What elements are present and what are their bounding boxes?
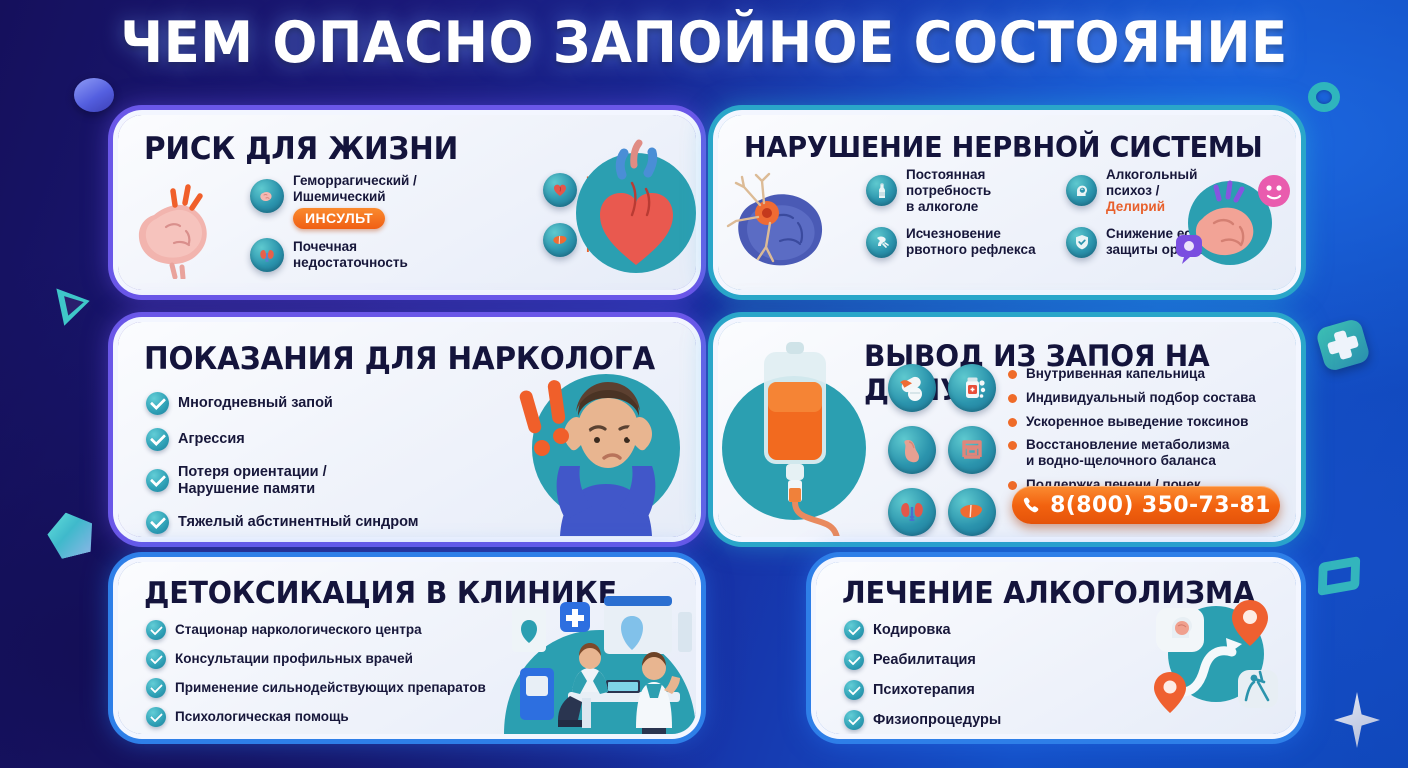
- list-item-label-3: в алкоголе: [906, 199, 991, 215]
- vomit-reflex-icon: [866, 227, 897, 258]
- list-item: Восстановление метаболизма и водно-щелоч…: [1008, 437, 1288, 469]
- card-nervous-system: НАРУШЕНИЕ НЕРВНОЙ СИСТЕМЫ: [718, 115, 1296, 290]
- list-item: Кодировка: [844, 620, 1104, 640]
- list-item: Стационар наркологического центра: [146, 620, 566, 640]
- list-item-label: Инфаркт: [586, 174, 651, 190]
- list-item-label-2: рвотного рефлекса: [906, 242, 1036, 258]
- check-icon: [146, 649, 166, 669]
- triangle-decoration: [56, 282, 93, 325]
- card-nervous-system-title: НАРУШЕНИЕ НЕРВНОЙ СИСТЕМЫ: [744, 131, 1263, 164]
- sparkle-decoration: [1334, 692, 1380, 748]
- neuron-brain-hero-art: [720, 165, 870, 285]
- list-item: Постоянная потребность в алкоголе: [866, 167, 1041, 214]
- list-item-label: Внутривенная капельница: [1026, 366, 1205, 382]
- list-item: Геморрагический / Ишемический ИНСУЛЬТ: [250, 173, 440, 229]
- head-psychosis-icon: [1066, 175, 1097, 206]
- ring-decoration: [1308, 82, 1340, 112]
- list-item-label: Цирроз: [586, 224, 635, 240]
- list-item: Психологическая помощь: [146, 707, 566, 727]
- list-item-label-2: миокарда: [586, 190, 651, 206]
- kidneys-icon: [888, 488, 936, 536]
- list-item: Многодневный запой: [146, 392, 516, 415]
- check-icon: [146, 678, 166, 698]
- list-item: Индивидуальный подбор состава: [1008, 390, 1288, 406]
- phone-icon: [1021, 495, 1041, 515]
- bullet-icon: [1008, 394, 1017, 403]
- card-narcologist: ПОКАЗАНИЯ ДЛЯ НАРКОЛОГА Многодневный зап…: [118, 322, 696, 537]
- list-item-label: Применение сильнодействующих препаратов: [175, 680, 486, 696]
- bullet-icon: [1008, 481, 1017, 490]
- card-alcoholism-treatment: ЛЕЧЕНИЕ АЛКОГОЛИЗМА Кодировка Реабилитац…: [816, 562, 1296, 734]
- bullet-icon: [1008, 441, 1017, 450]
- list-item: Снижение естественной защиты организма: [1066, 226, 1271, 258]
- list-item: Реабилитация: [844, 650, 1104, 670]
- list-item: Почечная недостаточность: [250, 238, 440, 272]
- list-item-label: Геморрагический /: [293, 173, 417, 189]
- check-icon: [146, 620, 166, 640]
- list-item-label: Исчезновение: [906, 226, 1036, 242]
- list-item-label: Стационар наркологического центра: [175, 622, 422, 638]
- bullet-icon: [1008, 370, 1017, 379]
- list-item-label: Индивидуальный подбор состава: [1026, 390, 1256, 406]
- brain-hero-art: [126, 169, 242, 279]
- list-item-label-2: и водно-щелочного баланса: [1026, 453, 1229, 469]
- medical-cross-decoration: [1315, 318, 1371, 373]
- list-item-label-2: потребность: [906, 183, 991, 199]
- list-item-label: Консультации профильных врачей: [175, 651, 413, 667]
- stressed-man-hero-art: [494, 356, 690, 536]
- card-clinic-detox: ДЕТОКСИКАЦИЯ В КЛИНИКЕ Стационар нарколо…: [118, 562, 696, 734]
- list-item-label: Физиопроцедуры: [873, 712, 1001, 729]
- list-item-label: Кодировка: [873, 622, 951, 639]
- list-item: Алкогольный психоз / Делирий: [1066, 167, 1271, 214]
- bullet-icon: [1008, 418, 1017, 427]
- list-item-label: Потеря ориентации /: [178, 464, 327, 481]
- ellipse-decoration: [74, 78, 114, 112]
- list-item-label-2: печени: [586, 240, 635, 256]
- list-item: Консультации профильных врачей: [146, 649, 566, 669]
- shield-check-icon: [1066, 227, 1097, 258]
- check-icon: [844, 710, 864, 730]
- list-item-label: Психологическая помощь: [175, 709, 349, 725]
- list-item-label: Постоянная: [906, 167, 991, 183]
- list-item-label: Восстановление метаболизма: [1026, 437, 1229, 453]
- stomach-icon: [888, 426, 936, 474]
- check-icon: [146, 392, 169, 415]
- list-item-label: Ускоренное выведение токсинов: [1026, 414, 1248, 430]
- kidneys-icon: [250, 238, 284, 272]
- bottle-icon: [866, 175, 897, 206]
- check-icon: [844, 680, 864, 700]
- card-clinic-detox-title: ДЕТОКСИКАЦИЯ В КЛИНИКЕ: [144, 576, 617, 611]
- list-item: Ускоренное выведение токсинов: [1008, 414, 1288, 430]
- card-home-withdrawal: ВЫВОД ИЗ ЗАПОЯ НА ДОМУ: [718, 322, 1296, 537]
- heart-icon: [543, 173, 577, 207]
- brain-icon: [250, 179, 284, 213]
- page-title: ЧЕМ ОПАСНО ЗАПОЙНОЕ СОСТОЯНИЕ: [49, 14, 1358, 72]
- list-item-label: Снижение естественной: [1106, 226, 1268, 242]
- list-item-label-2: недостаточность: [293, 255, 408, 271]
- check-icon: [146, 511, 169, 534]
- list-item-label: Психотерапия: [873, 682, 975, 699]
- phone-cta-button[interactable]: 8(800) 350-73-81: [1012, 486, 1280, 524]
- list-item-label-2: Нарушение памяти: [178, 481, 327, 498]
- card-alcoholism-treatment-title: ЛЕЧЕНИЕ АЛКОГОЛИЗМА: [842, 576, 1255, 611]
- square-outline-decoration: [1318, 556, 1361, 596]
- list-item: Потеря ориентации / Нарушение памяти: [146, 464, 516, 498]
- list-item: Применение сильнодействующих препаратов: [146, 678, 566, 698]
- intestines-icon: [948, 426, 996, 474]
- check-icon: [146, 428, 169, 451]
- list-item-label: Тяжелый абстинентный синдром: [178, 514, 419, 531]
- stroke-badge: ИНСУЛЬТ: [293, 208, 385, 229]
- list-item-label: Реабилитация: [873, 652, 976, 669]
- list-item: Исчезновение рвотного рефлекса: [866, 226, 1041, 258]
- check-icon: [146, 469, 169, 492]
- list-item-label-2: защиты организма: [1106, 242, 1268, 258]
- card-narcologist-title: ПОКАЗАНИЯ ДЛЯ НАРКОЛОГА: [144, 341, 655, 377]
- delirium-label: Делирий: [1106, 199, 1197, 215]
- list-item-label: Многодневный запой: [178, 395, 333, 412]
- pills-icon: [888, 364, 936, 412]
- liver-icon: [948, 488, 996, 536]
- list-item: Агрессия: [146, 428, 516, 451]
- list-item: Внутривенная капельница: [1008, 366, 1288, 382]
- list-item-label-2: психоз /: [1106, 183, 1197, 199]
- medicine-bottle-icon: [948, 364, 996, 412]
- list-item: Инфаркт миокарда: [543, 173, 696, 207]
- list-item-label-2: Ишемический: [293, 189, 417, 205]
- list-item: Психотерапия: [844, 680, 1104, 700]
- card-life-risk: РИСК ДЛЯ ЖИЗНИ Геморрагиче: [118, 115, 696, 290]
- list-item-label: Алкогольный: [1106, 167, 1197, 183]
- card-life-risk-title: РИСК ДЛЯ ЖИЗНИ: [144, 131, 458, 167]
- list-item: Физиопроцедуры: [844, 710, 1104, 730]
- phone-number: 8(800) 350-73-81: [1050, 493, 1271, 518]
- list-item: Тяжелый абстинентный синдром: [146, 511, 516, 534]
- list-item-label: Почечная: [293, 239, 408, 255]
- check-icon: [844, 620, 864, 640]
- check-icon: [844, 650, 864, 670]
- list-item: Цирроз печени: [543, 223, 696, 257]
- organ-icon-grid: [888, 364, 996, 536]
- liver-icon: [543, 223, 577, 257]
- check-icon: [146, 707, 166, 727]
- pentagon-decoration: [43, 507, 98, 561]
- list-item-label: Агрессия: [178, 431, 245, 448]
